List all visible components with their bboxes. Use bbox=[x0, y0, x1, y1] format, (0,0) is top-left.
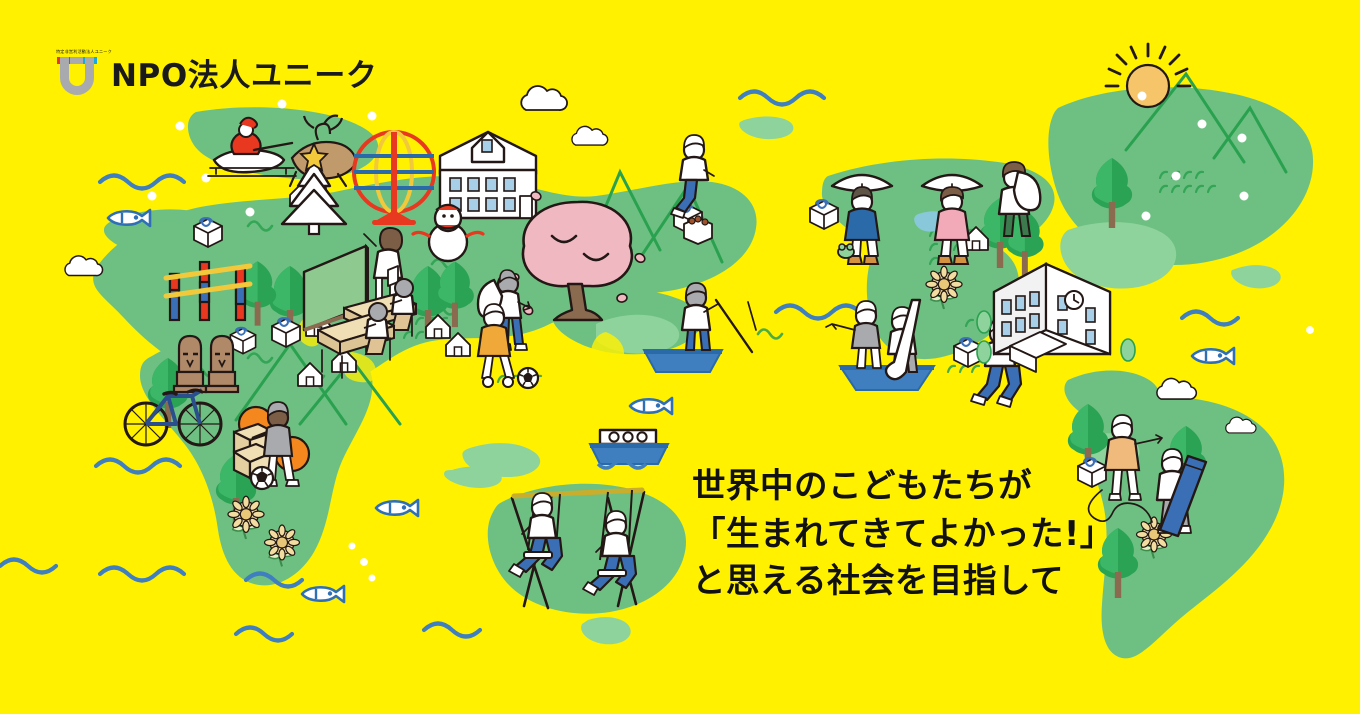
tagline-line-3: と思える社会を目指して bbox=[692, 557, 1114, 605]
cargo-ship-icon bbox=[590, 430, 668, 468]
tagline-block: 世界中のこどもたちが 「生まれてきてよかった!」 と思える社会を目指して bbox=[692, 462, 1114, 605]
brand-name: NPO法人ユニーク bbox=[111, 50, 377, 95]
world-map-illustration: .lo{fill:none;stroke:#231815;stroke-widt… bbox=[0, 0, 1360, 714]
frog-icon bbox=[838, 244, 854, 258]
poster-canvas: .lo{fill:none;stroke:#231815;stroke-widt… bbox=[0, 0, 1360, 714]
tagline-line-1: 世界中のこどもたちが bbox=[692, 462, 1114, 510]
tagline-line-2: 「生まれてきてよかった!」 bbox=[692, 510, 1114, 558]
brand-header[interactable]: 特定非営利活動法人ユニーク NPO法人ユニーク bbox=[56, 48, 377, 96]
soccer-ball-icon bbox=[518, 368, 538, 388]
logo-micro-text: 特定非営利活動法人ユニーク bbox=[56, 48, 97, 55]
soccer-ball-africa-icon bbox=[251, 467, 273, 489]
logo-u-letter bbox=[57, 57, 97, 95]
unique-logo-mark: 特定非営利活動法人ユニーク bbox=[56, 48, 98, 96]
